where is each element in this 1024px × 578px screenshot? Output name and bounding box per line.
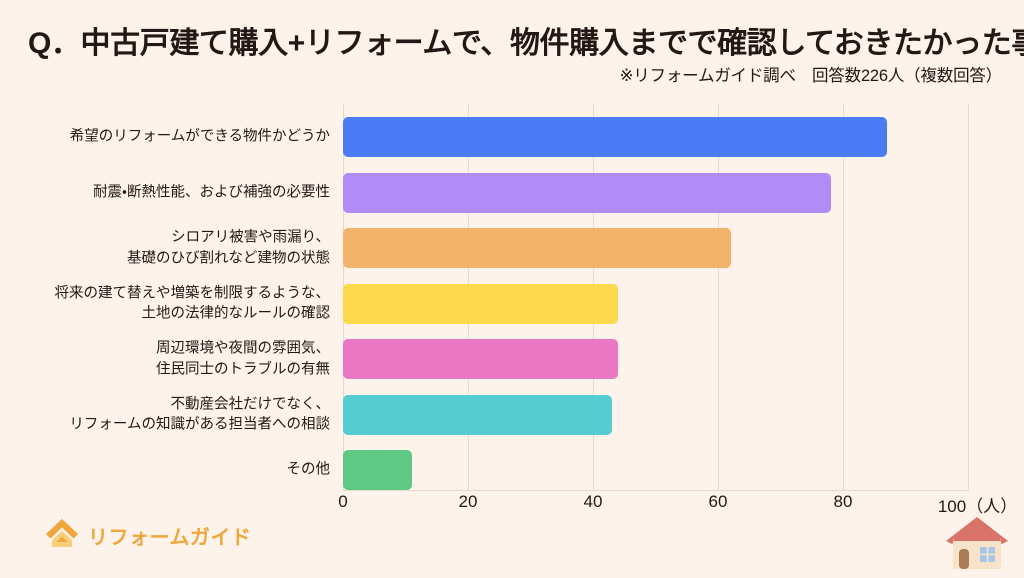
chart-row: その他	[0, 450, 1024, 490]
category-label: 不動産会社だけでなく、 リフォームの知識がある担当者への相談	[69, 394, 330, 435]
category-label: 周辺環境や夜間の雰囲気、 住民同士のトラブルの有無	[156, 338, 330, 379]
chart-row: 将来の建て替えや増築を制限するような、 土地の法律的なルールの確認	[0, 284, 1024, 324]
chart-row: 希望のリフォームができる物件かどうか	[0, 117, 1024, 157]
bar[interactable]	[343, 173, 831, 213]
house-roof-icon	[43, 516, 81, 555]
category-label: 将来の建て替えや増築を制限するような、 土地の法律的なルールの確認	[55, 283, 331, 324]
brand-logo-text: リフォームガイド	[88, 521, 251, 550]
bar[interactable]	[343, 117, 887, 157]
chart-row: シロアリ被害や雨漏り、 基礎のひび割れなど建物の状態	[0, 228, 1024, 268]
chart-row: 耐震・断熱性能、および補強の必要性	[0, 173, 1024, 213]
bar[interactable]	[343, 339, 618, 379]
bar[interactable]	[343, 284, 618, 324]
bar[interactable]	[343, 395, 612, 435]
chart-row: 周辺環境や夜間の雰囲気、 住民同士のトラブルの有無	[0, 339, 1024, 379]
chart-plot-area: 020406080100（人） 希望のリフォームができる物件かどうか耐震・断熱性…	[0, 0, 1024, 576]
category-label: 希望のリフォームができる物件かどうか	[70, 127, 330, 148]
bar[interactable]	[343, 228, 731, 268]
chart-row: 不動産会社だけでなく、 リフォームの知識がある担当者への相談	[0, 395, 1024, 435]
chart-bar-rows: 希望のリフォームができる物件かどうか耐震・断熱性能、および補強の必要性シロアリ被…	[0, 0, 1024, 576]
bar[interactable]	[343, 450, 412, 490]
house-illustration-icon	[944, 511, 1010, 573]
category-label: シロアリ被害や雨漏り、 基礎のひび割れなど建物の状態	[127, 227, 330, 268]
brand-logo: リフォームガイド	[43, 513, 251, 557]
category-label: その他	[287, 460, 331, 481]
category-label: 耐震・断熱性能、および補強の必要性	[93, 182, 330, 203]
